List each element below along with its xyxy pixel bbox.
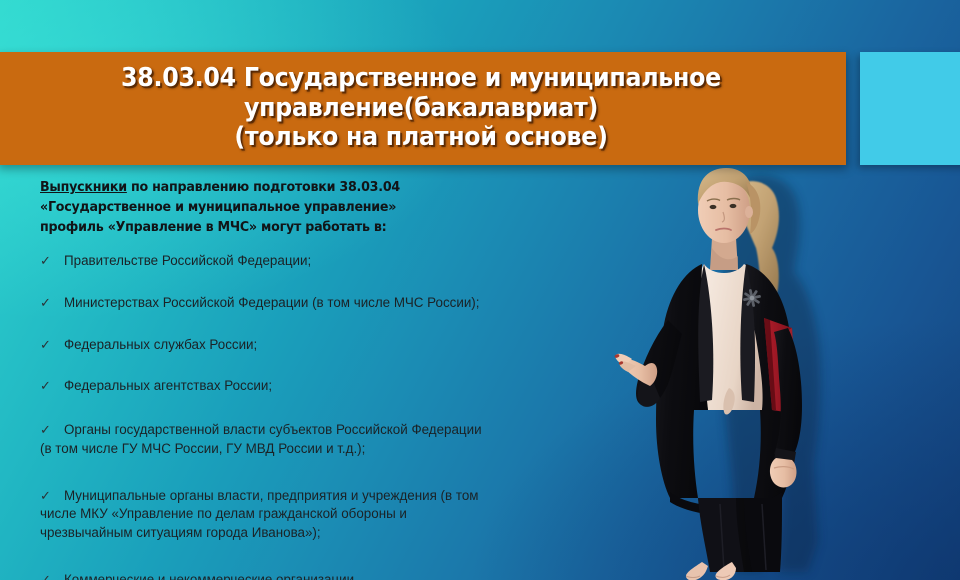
list-item-line: (в том числе ГУ МЧС России, ГУ МВД Росси… xyxy=(40,440,600,459)
intro-line-1-rest: по направлению подготовки 38.03.04 xyxy=(127,180,400,195)
list-item-text: Муниципальные органы власти, предприятия… xyxy=(40,487,600,543)
check-icon: ✓ xyxy=(40,252,54,270)
list-item-text: Правительстве Российской Федерации; xyxy=(40,252,600,271)
check-icon: ✓ xyxy=(40,487,54,505)
slide-title-line-1: 38.03.04 Государственное и муниципальное xyxy=(121,64,721,94)
list-item: ✓ Федеральных службах России; xyxy=(40,336,600,355)
list-item-text: Федеральных службах России; xyxy=(40,336,600,355)
list-item: ✓ Муниципальные органы власти, предприят… xyxy=(40,487,600,543)
list-item: ✓ Правительстве Российской Федерации; xyxy=(40,252,600,271)
bullet-list: ✓ Правительстве Российской Федерации; ✓ … xyxy=(40,252,600,580)
intro-underlined-word: Выпускники xyxy=(40,180,127,195)
list-item-text: Органы государственной власти субъектов … xyxy=(40,421,600,459)
list-item-line: числе МКУ «Управление по делам гражданск… xyxy=(40,505,600,524)
intro-line-1: Выпускники по направлению подготовки 38.… xyxy=(40,178,578,198)
intro-paragraph: Выпускники по направлению подготовки 38.… xyxy=(40,178,578,238)
list-item-text: Министерствах Российской Федерации (в то… xyxy=(40,294,600,313)
check-icon: ✓ xyxy=(40,421,54,439)
check-icon: ✓ xyxy=(40,377,54,395)
accent-square xyxy=(860,52,960,165)
list-item: ✓ Министерствах Российской Федерации (в … xyxy=(40,294,600,313)
check-icon: ✓ xyxy=(40,294,54,312)
slide-title: 38.03.04 Государственное и муниципальное… xyxy=(26,52,817,165)
list-item-line: Муниципальные органы власти, предприятия… xyxy=(64,488,478,503)
presenter-photo xyxy=(612,152,862,580)
check-icon: ✓ xyxy=(40,571,54,580)
check-icon: ✓ xyxy=(40,336,54,354)
list-item-text: Федеральных агентствах России; xyxy=(40,377,600,396)
list-item-line: Органы государственной власти субъектов … xyxy=(64,422,482,437)
slide-title-line-2: управление(бакалавриат) xyxy=(244,94,598,124)
slide-title-line-3: (только на платной основе) xyxy=(234,123,607,153)
intro-line-2: «Государственное и муниципальное управле… xyxy=(40,198,578,218)
list-item: ✓ Федеральных агентствах России; xyxy=(40,377,600,396)
list-item-line: чрезвычайным ситуациям города Иванова»); xyxy=(40,524,600,543)
list-item: ✓ Органы государственной власти субъекто… xyxy=(40,421,600,459)
intro-line-3: профиль «Управление в МЧС» могут работат… xyxy=(40,218,578,238)
title-banner: 38.03.04 Государственное и муниципальное… xyxy=(0,52,846,165)
slide-root: 38.03.04 Государственное и муниципальное… xyxy=(0,0,960,580)
list-item-text: Коммерческие и некоммерческие организаци… xyxy=(40,571,600,580)
list-item: ✓ Коммерческие и некоммерческие организа… xyxy=(40,571,600,580)
